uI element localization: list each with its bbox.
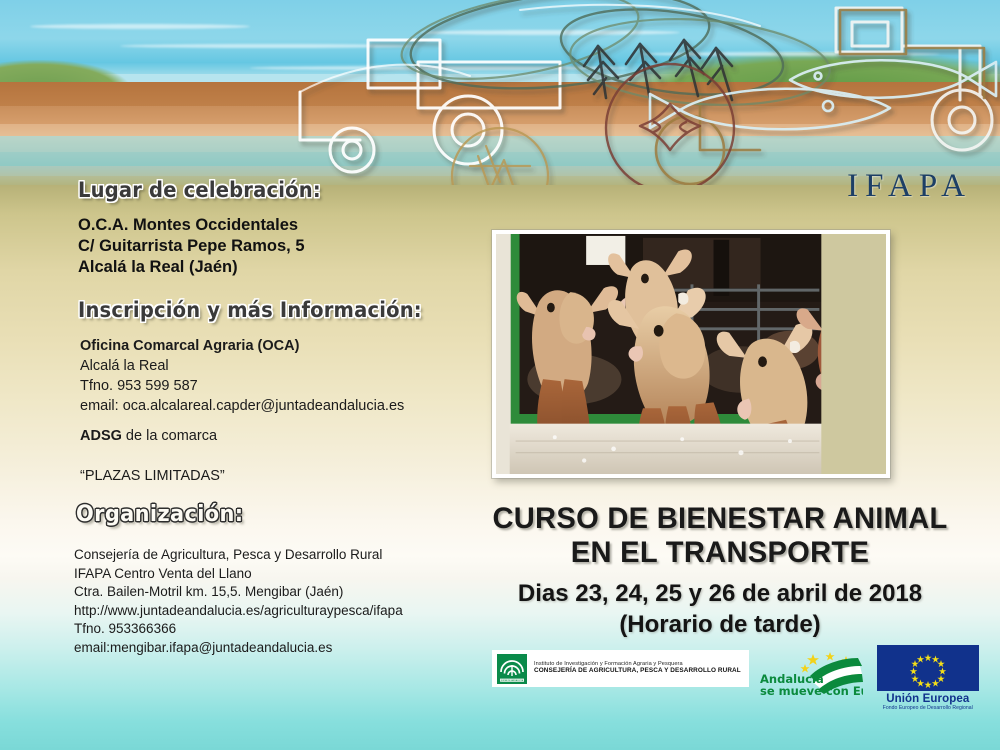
goats-photo-illustration — [496, 234, 886, 474]
org-line-1: Consejería de Agricultura, Pesca y Desar… — [74, 546, 403, 565]
adsg-line: ADSG de la comarca — [80, 426, 217, 446]
course-title-line-2: EN EL TRANSPORTE — [468, 536, 972, 570]
course-dates-block: Dias 23, 24, 25 y 26 de abril de 2018 (H… — [460, 578, 980, 640]
org-line-2: IFAPA Centro Venta del Llano — [74, 565, 403, 584]
ifapa-wordmark: IFAPA — [847, 168, 972, 205]
eu-flag-icon — [877, 645, 979, 691]
registration-heading: Inscripción y más Información: — [78, 298, 422, 322]
registration-details: Oficina Comarcal Agraria (OCA) Alcalá la… — [80, 336, 404, 416]
goats-photo — [492, 230, 890, 478]
org-phone: Tfno. 953366366 — [74, 620, 403, 639]
registration-city: Alcalá la Real — [80, 356, 404, 376]
eu-logo-subtitle: Fondo Europeo de Desarrollo Regional — [872, 705, 984, 711]
junta-logo-line-2: CONSEJERÍA DE AGRICULTURA, PESCA Y DESAR… — [534, 668, 741, 675]
registration-email[interactable]: email: oca.alcalareal.capder@juntadeanda… — [80, 396, 404, 416]
svg-text:JUNTA DE ANDALUCIA: JUNTA DE ANDALUCIA — [500, 679, 524, 682]
course-title-line-1: CURSO DE BIENESTAR ANIMAL — [468, 502, 972, 536]
organization-heading: Organización: — [76, 502, 244, 527]
venue-address: O.C.A. Montes Occidentales C/ Guitarrist… — [78, 215, 305, 278]
organization-details: Consejería de Agricultura, Pesca y Desar… — [74, 546, 403, 657]
andalucia-se-mueve-logo: Andalucía se mueve con Europa Andalucía … — [758, 650, 863, 698]
banner-lineart-overlay — [0, 0, 1000, 185]
course-schedule: (Horario de tarde) — [460, 609, 980, 640]
junta-ifapa-logo: JUNTA DE ANDALUCIA Instituto de Investig… — [492, 650, 749, 687]
european-union-logo: Unión Europea Fondo Europeo de Desarroll… — [872, 645, 984, 711]
venue-line-3: Alcalá la Real (Jaén) — [78, 257, 305, 278]
registration-office: Oficina Comarcal Agraria (OCA) — [80, 336, 404, 356]
org-website[interactable]: http://www.juntadeandalucia.es/agricultu… — [74, 602, 403, 621]
venue-line-2: C/ Guitarrista Pepe Ramos, 5 — [78, 236, 305, 257]
poster-canvas: IFAPA Lugar de celebración: O.C.A. Monte… — [0, 0, 1000, 750]
org-email[interactable]: email:mengibar.ifapa@juntadeandalucia.es — [74, 639, 403, 658]
course-title: CURSO DE BIENESTAR ANIMAL EN EL TRANSPOR… — [468, 502, 972, 570]
registration-phone: Tfno. 953 599 587 — [80, 376, 404, 396]
svg-text:se mueve con Europa: se mueve con Europa — [760, 684, 863, 698]
venue-line-1: O.C.A. Montes Occidentales — [78, 215, 305, 236]
course-dates: Dias 23, 24, 25 y 26 de abril de 2018 — [460, 578, 980, 609]
logo-strip: JUNTA DE ANDALUCIA Instituto de Investig… — [492, 650, 984, 711]
header-banner-artwork — [0, 0, 1000, 185]
limited-places-note: “PLAZAS LIMITADAS” — [80, 468, 225, 484]
venue-heading: Lugar de celebración: — [78, 178, 321, 202]
adsg-rest: de la comarca — [122, 428, 217, 444]
org-line-3: Ctra. Bailen-Motril km. 15,5. Mengibar (… — [74, 583, 403, 602]
eu-logo-title: Unión Europea — [872, 693, 984, 705]
junta-de-andalucia-icon: JUNTA DE ANDALUCIA — [497, 654, 527, 684]
adsg-label: ADSG — [80, 428, 122, 444]
